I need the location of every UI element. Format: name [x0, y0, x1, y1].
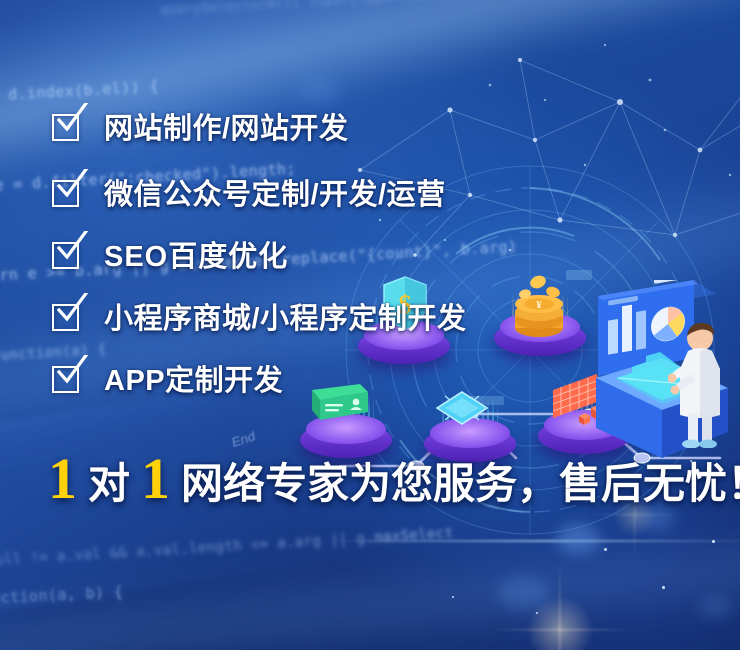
checkbox-checked-icon[interactable]: [52, 111, 82, 141]
headline-number-first: 1: [48, 450, 77, 508]
checklist-label: SEO百度优化: [104, 233, 288, 275]
bokeh-dot: [498, 576, 550, 610]
checkbox-checked-icon[interactable]: [52, 239, 82, 269]
checklist-item-app[interactable]: APP定制开发: [52, 350, 702, 406]
checkbox-checked-icon[interactable]: [52, 363, 82, 393]
sparkle-dot: [604, 548, 607, 551]
service-checklist: 网站制作/网站开发 微信公众号定制/开发/运营 SEO百度优化 小程序商城/小程…: [52, 98, 702, 412]
starburst-flare: [490, 560, 630, 650]
sparkle-dot: [662, 586, 665, 589]
checklist-item-wechat[interactable]: 微信公众号定制/开发/运营: [52, 164, 702, 220]
pedestal-grid: [538, 408, 630, 454]
checklist-item-miniapp[interactable]: 小程序商城/小程序定制开发: [52, 288, 702, 344]
bokeh-dot: [700, 596, 730, 618]
checklist-label: 小程序商城/小程序定制开发: [104, 295, 467, 337]
headline-number-second: 1: [141, 450, 170, 508]
light-streak-bottom: [0, 498, 740, 650]
background-code-bottom: unction(a, b) { = b.options.custom[a.arg…: [0, 497, 295, 650]
horizon-line: [330, 540, 740, 542]
bokeh-dot: [556, 524, 600, 554]
promo-headline: 1 对 1 网络专家为您服务，售后无忧！: [48, 450, 740, 508]
promo-banner: = d.index(b.el)) { e = d.filter(":checke…: [0, 0, 740, 650]
checklist-label: APP定制开发: [104, 357, 283, 399]
sparkle-dot: [452, 596, 454, 598]
keyboard-end-key: End: [231, 429, 256, 451]
headline-mid-char: 对: [88, 463, 130, 505]
checklist-label: 网站制作/网站开发: [104, 105, 349, 147]
sparkle-dot: [712, 540, 715, 543]
sparkle-dot: [536, 612, 538, 614]
checklist-item-website[interactable]: 网站制作/网站开发: [52, 98, 702, 154]
checklist-item-seo[interactable]: SEO百度优化: [52, 226, 702, 282]
bokeh-dot: [640, 506, 674, 530]
headline-tail-text: 网络专家为您服务，售后无忧！: [181, 463, 740, 505]
checklist-label: 微信公众号定制/开发/运营: [104, 171, 446, 213]
checkbox-checked-icon[interactable]: [52, 177, 82, 207]
background-code-header: querySelectorAll('input[type=checkbox]'): [160, 0, 489, 18]
checkbox-checked-icon[interactable]: [52, 301, 82, 331]
